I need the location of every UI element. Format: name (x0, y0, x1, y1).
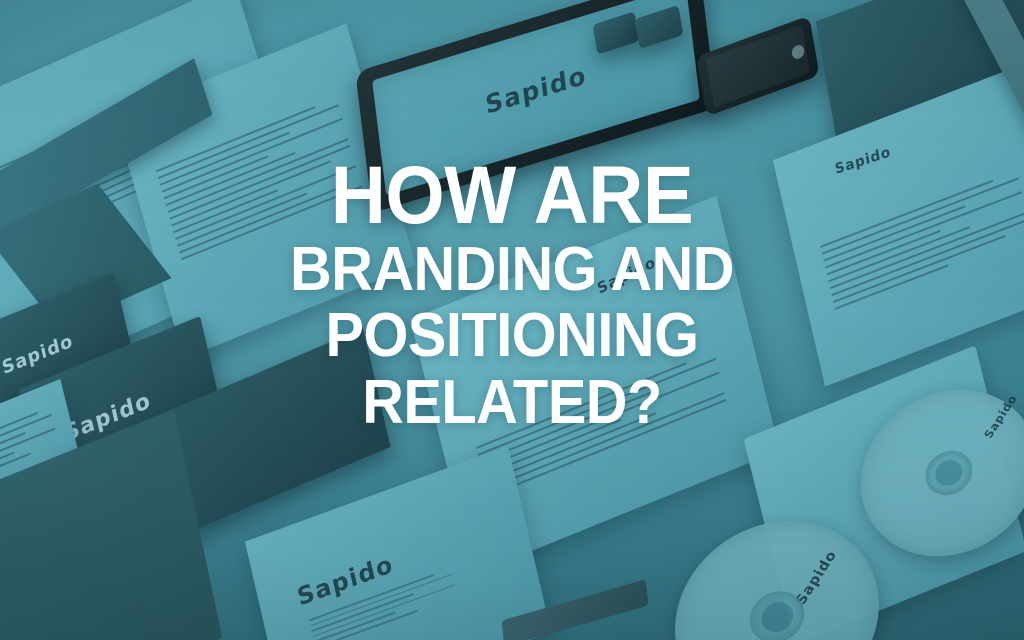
letterhead-right: Sapido (773, 63, 1024, 386)
letterhead-center-brand-logo: Sapido (595, 253, 658, 298)
tablet-brand-logo: Sapido (484, 60, 588, 120)
phone-screen (706, 25, 810, 108)
smartphone-device (696, 15, 819, 116)
paper-text-lines (820, 170, 1024, 314)
background-photo: Sapido Sapido Sapido (0, 0, 1024, 640)
cd-disc-top-brand-logo: Sapido (981, 393, 1019, 440)
letterhead-right-brand-logo: Sapido (834, 144, 893, 178)
cd-disc-bottom-brand-logo: Sapido (792, 548, 840, 607)
poster-canvas: Sapido Sapido Sapido (0, 0, 1024, 640)
